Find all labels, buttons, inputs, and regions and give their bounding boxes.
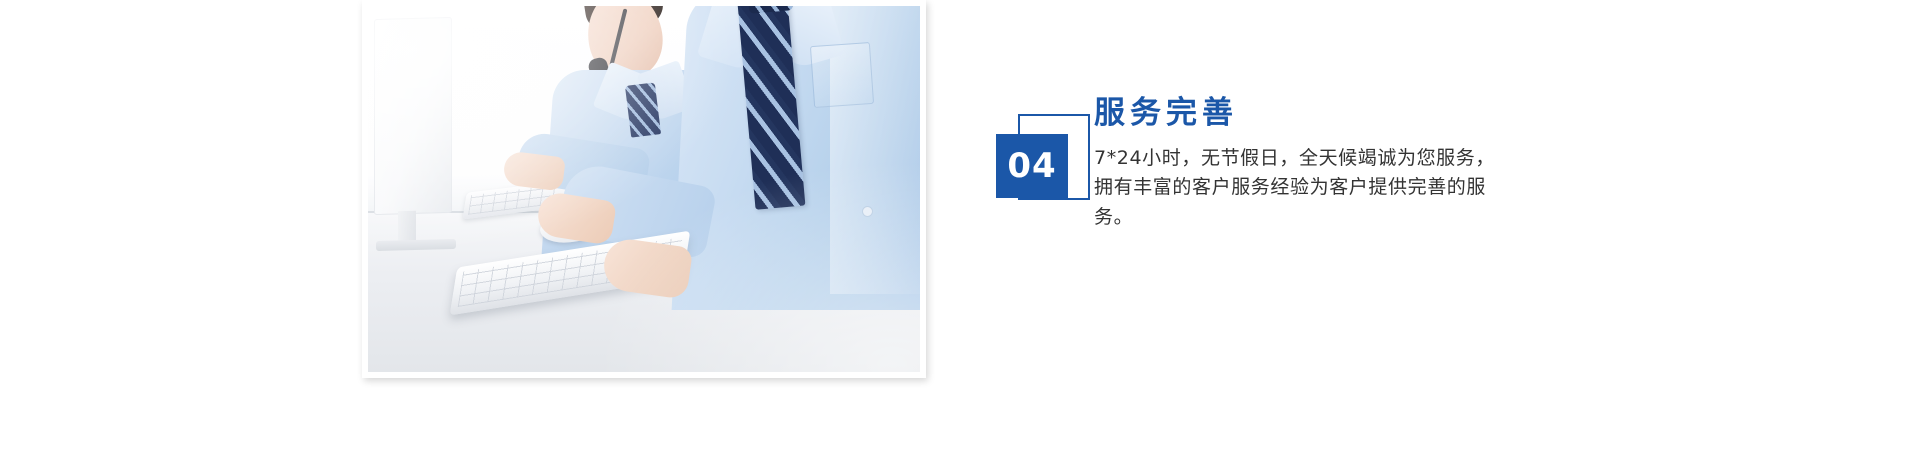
monitor	[374, 17, 452, 215]
necktie	[625, 82, 661, 137]
promo-section: 04 服务完善 7*24小时，无节假日，全天候竭诚为您服务，拥有丰富的客户服务经…	[0, 0, 1920, 452]
agent-foreground	[680, 6, 920, 314]
section-heading: 服务完善	[1094, 96, 1714, 132]
shirt-pocket	[810, 42, 874, 108]
customer-service-photo	[368, 6, 920, 372]
step-number: 04	[1007, 149, 1056, 183]
description-line-1: 7*24小时，无节假日，全天候竭诚为	[1094, 147, 1417, 169]
photo-frame	[362, 0, 926, 378]
step-number-badge: 04	[996, 134, 1068, 198]
text-column: 服务完善 7*24小时，无节假日，全天候竭诚为您服务，拥有丰富的客户服务经验为客…	[1094, 96, 1714, 232]
shirt-button	[862, 206, 873, 217]
section-description: 7*24小时，无节假日，全天候竭诚为您服务，拥有丰富的客户服务经验为客户提供完善…	[1094, 144, 1498, 232]
monitor-stand-base	[376, 239, 456, 251]
